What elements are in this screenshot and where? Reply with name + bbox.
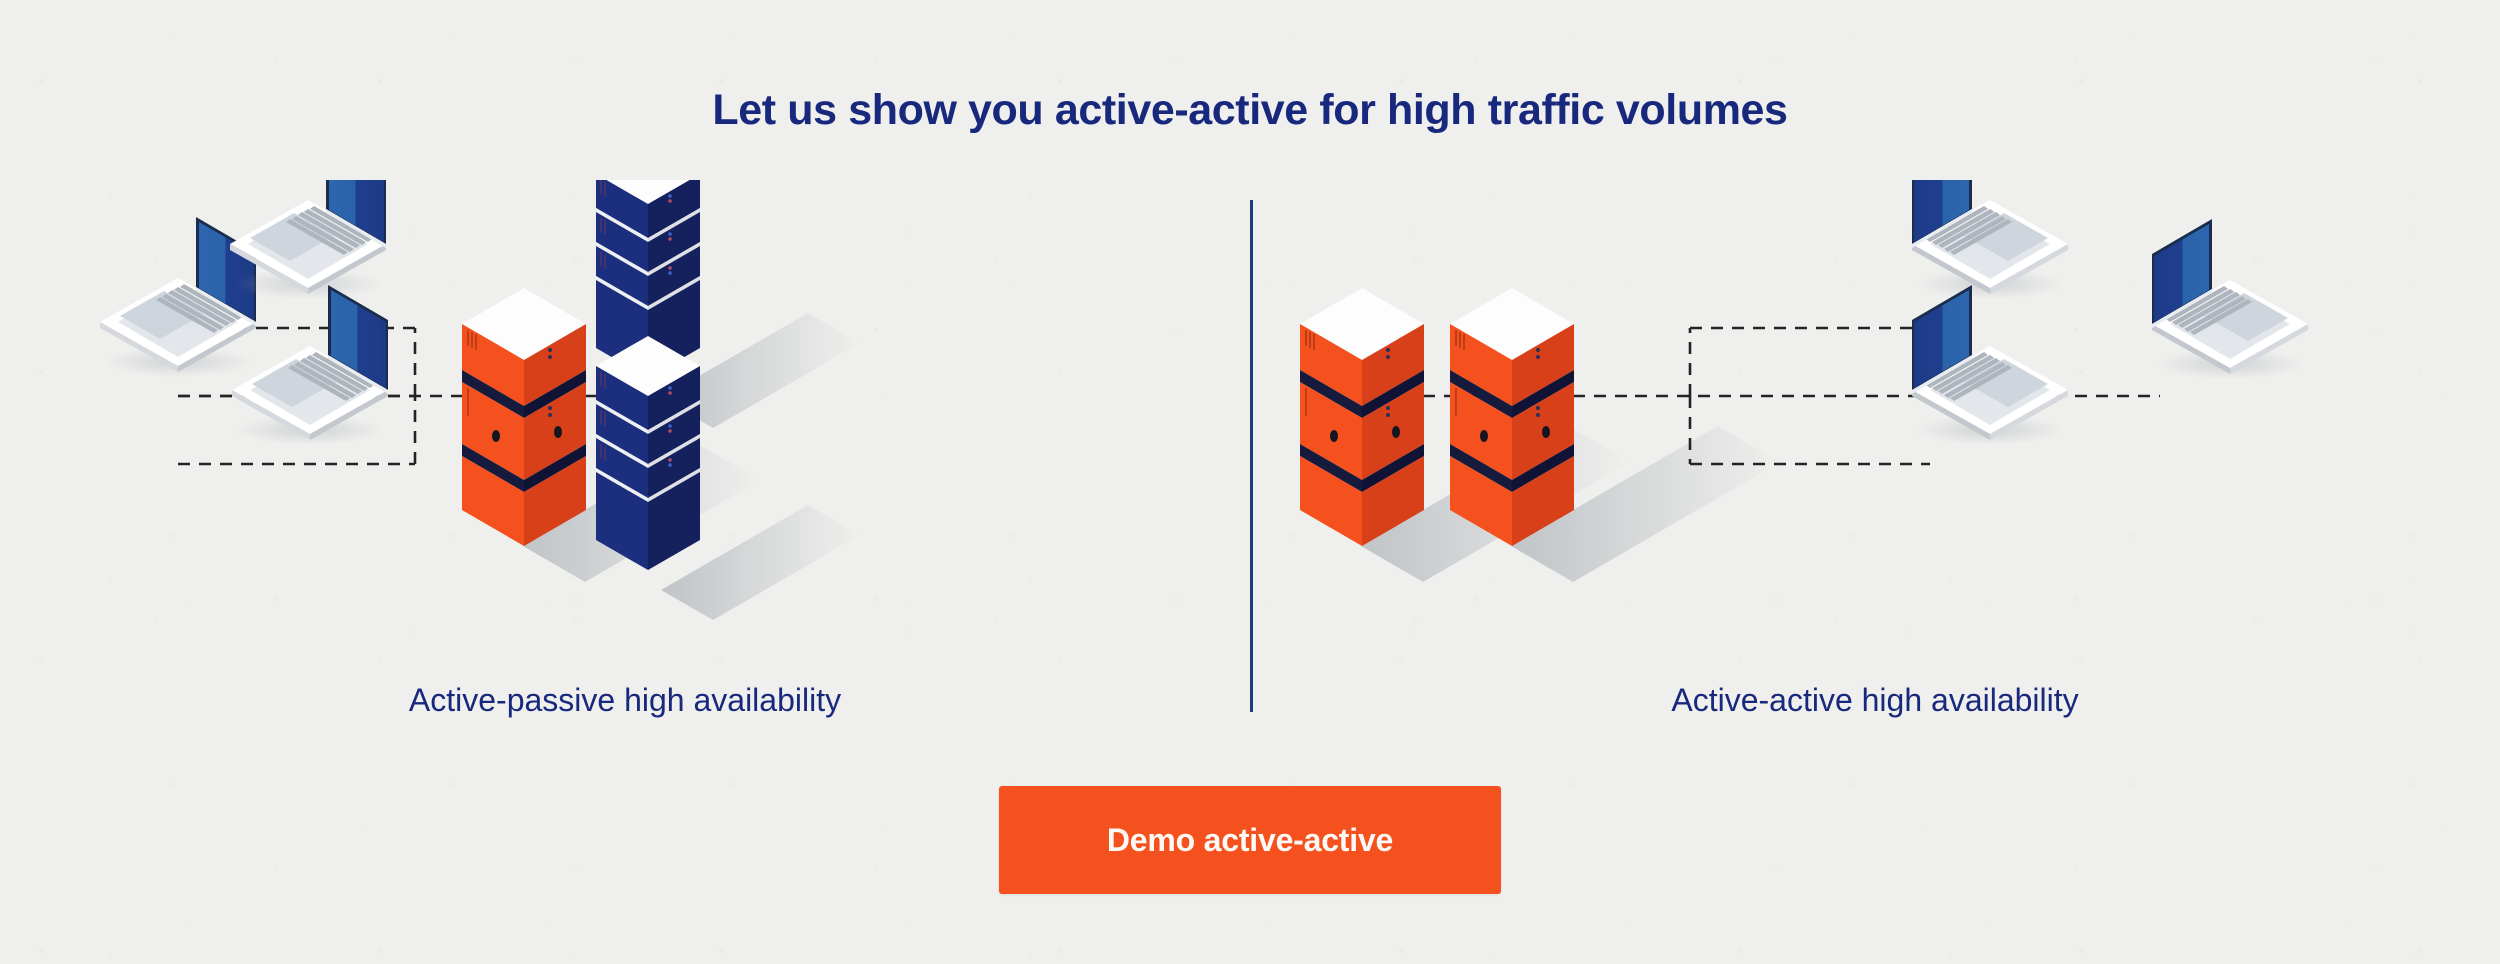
- server-orange-active: [1450, 288, 1574, 546]
- vertical-divider: [1250, 200, 1253, 712]
- active-active-diagram: [1300, 180, 2480, 700]
- client-laptop: [230, 180, 386, 299]
- active-passive-diagram: [60, 180, 1240, 700]
- caption-active-active: Active-active high availability: [1250, 682, 2500, 719]
- promo-banner: Let us show you active-active for high t…: [0, 0, 2500, 964]
- client-laptop: [1912, 180, 2068, 299]
- caption-active-passive: Active-passive high availability: [0, 682, 1250, 719]
- client-laptop: [100, 217, 256, 377]
- demo-active-active-button[interactable]: Demo active-active: [999, 786, 1501, 894]
- client-laptop: [2152, 219, 2308, 379]
- server-blue-standby: [596, 336, 700, 570]
- server-orange-primary: [462, 288, 586, 546]
- client-laptop: [1912, 285, 2068, 445]
- server-orange-active: [1300, 288, 1424, 546]
- page-title: Let us show you active-active for high t…: [0, 86, 2500, 135]
- cta-container: Demo active-active: [0, 786, 2500, 894]
